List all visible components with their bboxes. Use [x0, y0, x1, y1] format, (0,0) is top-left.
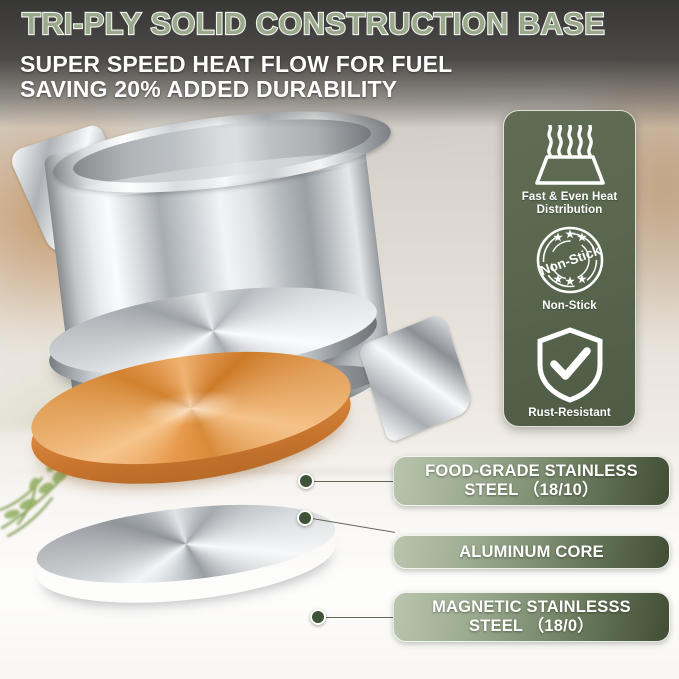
feature-label-line1: Fast & Even Heat — [522, 191, 618, 203]
page-subtitle-line1: SUPER SPEED HEAT FLOW FOR FUEL — [20, 52, 580, 77]
page-subtitle-line2: SAVING 20% ADDED DURABILITY — [20, 77, 580, 102]
callout-dot-food-grade — [298, 473, 314, 489]
feature-label-line2: Distribution — [537, 204, 603, 216]
heat-waves-icon — [533, 125, 607, 187]
leader-line-3 — [325, 617, 395, 618]
non-stick-seal-icon: Non-Stick — [534, 224, 606, 296]
callout-food-grade-stainless-steel: FOOD-GRADE STAINLESS STEEL （18/10） — [393, 456, 670, 506]
feature-label: Fast & Even Heat Distribution — [504, 191, 635, 216]
callout-line1: FOOD-GRADE STAINLESS — [425, 462, 638, 480]
callout-line2: STEEL （18/10） — [464, 481, 598, 499]
feature-panel: Fast & Even Heat Distribution Non-Stick — [503, 110, 636, 427]
callout-line1: MAGNETIC STAINLESSS — [432, 598, 631, 616]
callout-magnetic-stainless-steel: MAGNETIC STAINLESSS STEEL （18/0） — [393, 592, 670, 642]
infographic-canvas: TRI-PLY SOLID CONSTRUCTION BASE SUPER SP… — [0, 0, 679, 679]
leader-line-1 — [313, 481, 395, 482]
page-title: TRI-PLY SOLID CONSTRUCTION BASE — [22, 6, 666, 42]
callout-dot-magnetic-steel — [310, 609, 326, 625]
feature-rust-resistant: Rust-Resistant — [504, 327, 635, 420]
callout-text: ALUMINUM CORE — [459, 543, 604, 562]
callout-text: MAGNETIC STAINLESSS STEEL （18/0） — [432, 598, 631, 636]
callout-dot-aluminum-core — [297, 510, 313, 526]
callout-line2: STEEL （18/0） — [469, 617, 594, 635]
feature-fast-even-heat: Fast & Even Heat Distribution — [504, 125, 635, 216]
page-subtitle: SUPER SPEED HEAT FLOW FOR FUEL SAVING 20… — [20, 52, 580, 102]
callout-aluminum-core: ALUMINUM CORE — [393, 535, 670, 569]
shield-check-icon — [535, 327, 605, 403]
feature-label: Rust-Resistant — [504, 407, 635, 420]
feature-non-stick: Non-Stick Non-Stick — [504, 224, 635, 313]
callout-text: FOOD-GRADE STAINLESS STEEL （18/10） — [425, 462, 638, 500]
feature-label: Non-Stick — [504, 300, 635, 313]
